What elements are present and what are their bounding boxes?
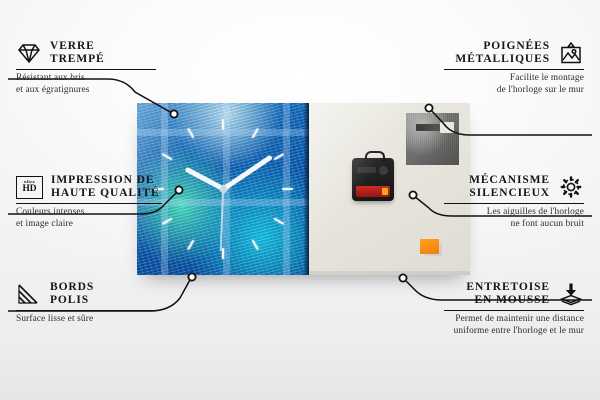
feature-title-line2: TREMPÉ (50, 53, 105, 65)
feature-title-line1: MÉCANISME (469, 174, 550, 186)
divider (444, 69, 584, 70)
feature-title-line2: EN MOUSSE (474, 294, 550, 306)
feature-sub-line1: Couleurs intenses (16, 207, 84, 217)
divider (16, 310, 156, 311)
feature-sub-line1: Les aiguilles de l'horloge (487, 207, 584, 217)
polished-edge-icon (16, 282, 42, 306)
product-image (137, 103, 470, 275)
divider (16, 203, 162, 204)
feature-poignees-metalliques: POIGNÉES MÉTALLIQUES Facilite le montage… (444, 40, 584, 96)
feature-title-line2: SILENCIEUX (469, 187, 550, 199)
feature-title-line2: MÉTALLIQUES (455, 53, 550, 65)
feature-title-line1: ENTRETOISE (466, 281, 550, 293)
feature-mecanisme-silencieux: MÉCANISME SILENCIEUX Les aiguilles de l'… (444, 174, 584, 230)
feature-sub-line2: et aux égratignures (16, 85, 90, 95)
feature-title-line1: IMPRESSION DE (51, 174, 154, 186)
divider (444, 310, 584, 311)
feature-title-line1: VERRE (50, 40, 95, 52)
feature-sub-line2: uniforme entre l'horloge et le mur (454, 326, 584, 336)
feature-sub-line1: Permet de maintenir une distance (455, 314, 584, 324)
ultra-hd-icon-bottom: HD (22, 185, 36, 195)
feature-sub-line2: de l'horloge sur le mur (497, 85, 584, 95)
feature-title-line1: POIGNÉES (483, 40, 550, 52)
feature-sub-line1: Facilite le montage (510, 73, 584, 83)
feature-sub-line2: et image claire (16, 219, 73, 229)
ultra-hd-icon: ultra HD (16, 176, 43, 199)
hanging-frame-icon (558, 41, 584, 65)
divider (16, 69, 156, 70)
gear-icon (558, 175, 584, 199)
divider (444, 203, 584, 204)
clock-front-face (137, 103, 309, 275)
feature-sub-line1: Surface lisse et sûre (16, 314, 93, 324)
feature-title-line2: POLIS (50, 294, 89, 306)
press-down-layers-icon (558, 282, 584, 306)
feature-entretoise-en-mousse: ENTRETOISE EN MOUSSE Permet de maintenir… (444, 281, 584, 337)
feature-impression-haute-qualite: ultra HD IMPRESSION DE HAUTE QUALITÉ Cou… (16, 174, 162, 230)
feature-sub-line2: ne font aucun bruit (511, 219, 584, 229)
diamond-icon (16, 41, 42, 65)
feature-infographic: VERRE TREMPÉ Résistant aux bris et aux é… (0, 0, 600, 400)
feature-verre-trempe: VERRE TREMPÉ Résistant aux bris et aux é… (16, 40, 156, 96)
feature-title-line2: HAUTE QUALITÉ (51, 187, 160, 199)
feature-title-line1: BORDS (50, 281, 94, 293)
feature-bords-polis: BORDS POLIS Surface lisse et sûre (16, 281, 156, 326)
feature-sub-line1: Résistant aux bris (16, 73, 85, 83)
